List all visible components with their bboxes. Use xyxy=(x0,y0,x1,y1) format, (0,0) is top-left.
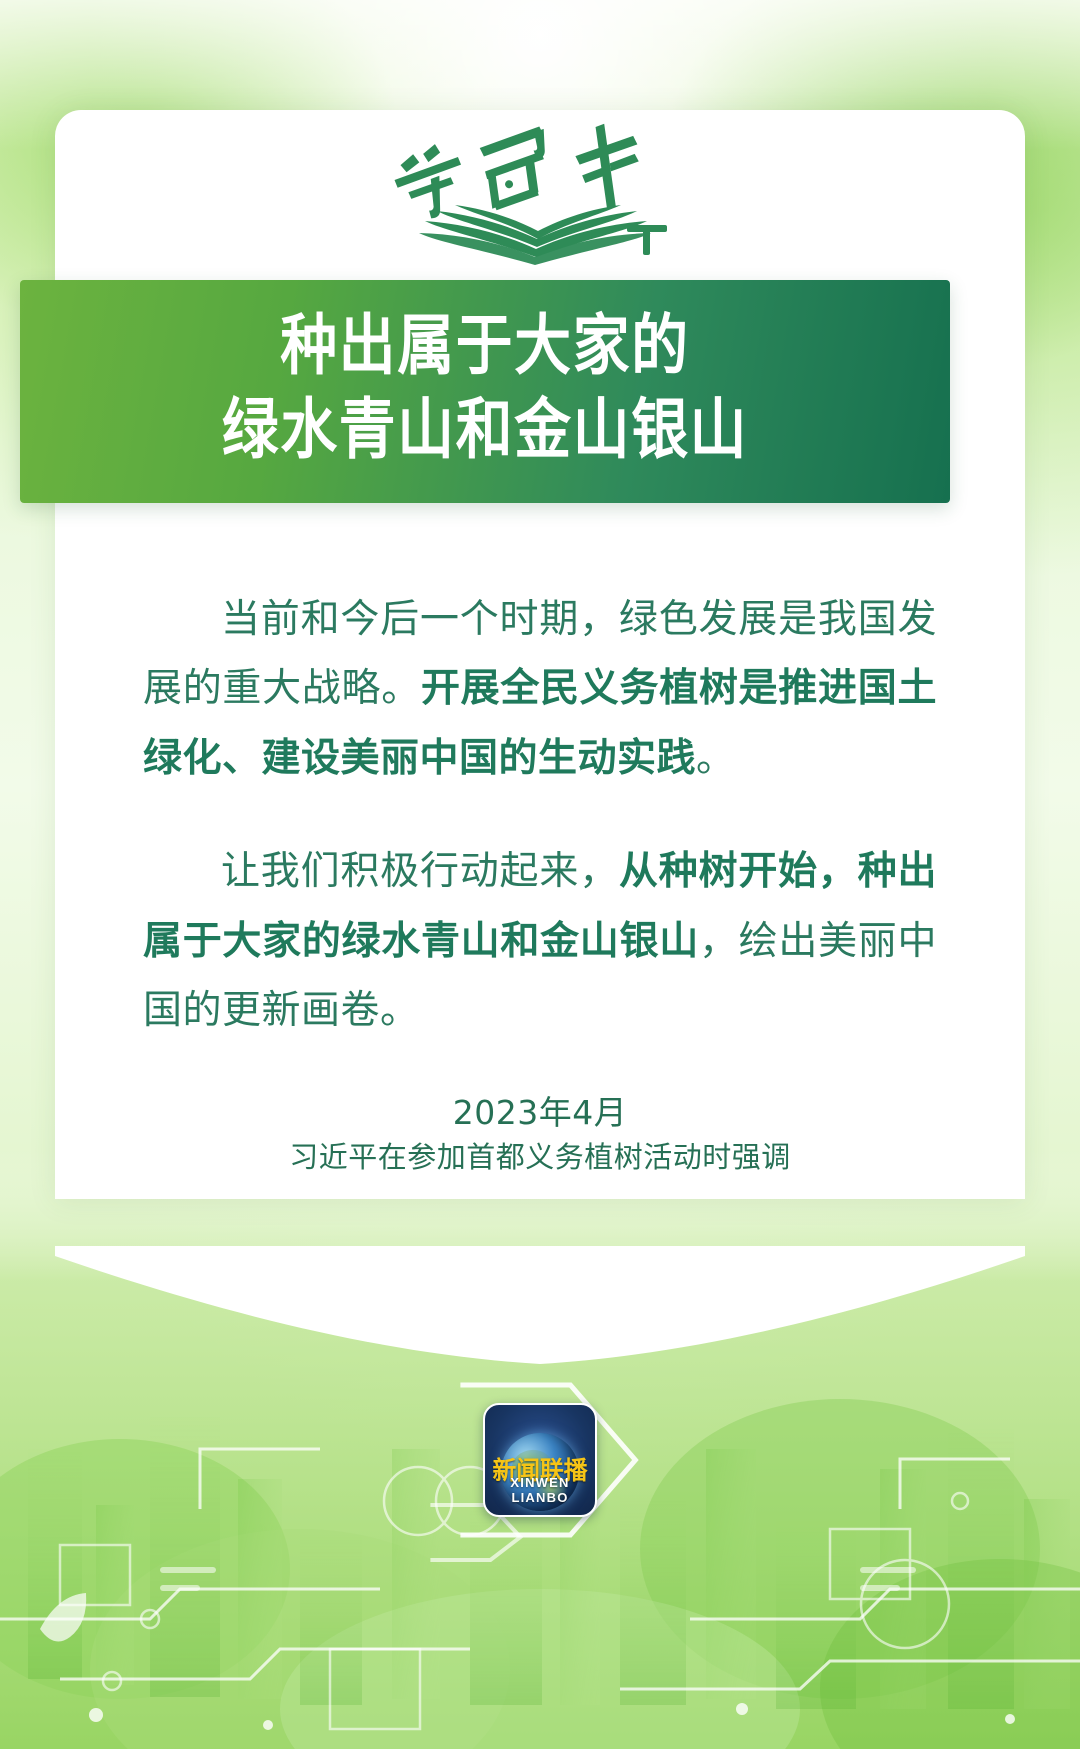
cctv-news-badge: 新闻联播 XINWEN LIANBO xyxy=(0,1345,1080,1575)
badge-name-en: XINWEN LIANBO xyxy=(485,1475,595,1505)
attribution-date: 2023年4月 xyxy=(143,1091,937,1136)
paragraph-2: 让我们积极行动起来，从种树开始，种出属于大家的绿水青山和金山银山，绘出美丽中国的… xyxy=(143,837,937,1045)
brand-logo xyxy=(55,110,1025,285)
paragraph-2-segment-1: 让我们积极行动起来， xyxy=(221,849,619,894)
title-line-1: 种出属于大家的 xyxy=(85,304,885,388)
title-banner: 种出属于大家的 绿水青山和金山银山 xyxy=(20,280,950,503)
title-line-2: 绿水青山和金山银山 xyxy=(85,388,885,472)
paragraph-1: 当前和今后一个时期，绿色发展是我国发展的重大战略。开展全民义务植树是推进国土绿化… xyxy=(143,585,937,793)
poster-root: 当前和今后一个时期，绿色发展是我国发展的重大战略。开展全民义务植树是推进国土绿化… xyxy=(0,0,1080,1749)
attribution: 2023年4月 习近平在参加首都义务植树活动时强调 xyxy=(143,1091,937,1179)
attribution-source: 习近平在参加首都义务植树活动时强调 xyxy=(143,1136,937,1180)
open-book-icon xyxy=(375,123,705,273)
content-card: 当前和今后一个时期，绿色发展是我国发展的重大战略。开展全民义务植树是推进国土绿化… xyxy=(55,110,1025,1199)
paragraph-1-segment-3: 。 xyxy=(696,736,736,781)
badge-tile: 新闻联播 XINWEN LIANBO xyxy=(483,1403,597,1517)
